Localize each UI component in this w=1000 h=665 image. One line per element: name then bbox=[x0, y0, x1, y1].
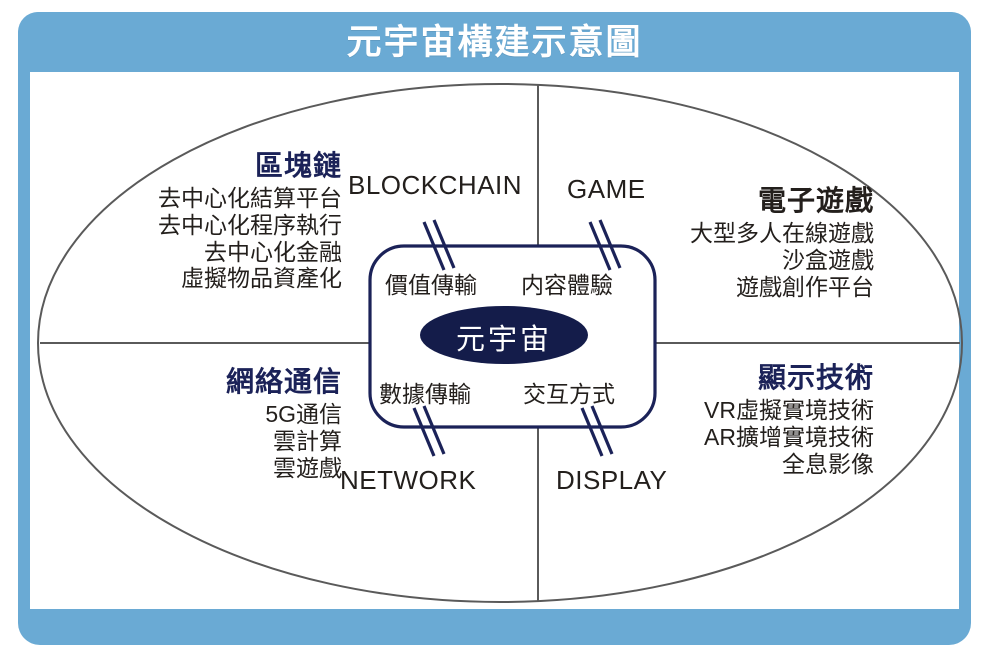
hub-label: 元宇宙 bbox=[420, 316, 588, 358]
quadrant-item: 去中心化結算平台 bbox=[92, 185, 342, 212]
quadrant-item: VR虛擬實境技術 bbox=[624, 397, 874, 424]
quadrant-item: 去中心化金融 bbox=[92, 239, 342, 266]
core-label-value-transfer: 價值傳輸 bbox=[385, 266, 477, 300]
core-label-interaction-mode: 交互方式 bbox=[523, 375, 615, 409]
english-label-blockchain: BLOCKCHAIN bbox=[348, 170, 522, 201]
quadrant-item: 去中心化程序執行 bbox=[92, 212, 342, 239]
english-label-network: NETWORK bbox=[340, 465, 476, 496]
quadrant-item: 雲遊戲 bbox=[92, 455, 342, 482]
quadrant-item: 沙盒遊戲 bbox=[624, 247, 874, 274]
quadrant-heading-blockchain: 區塊鏈 bbox=[92, 150, 342, 182]
quadrant-display: 顯示技術 VR虛擬實境技術 AR擴增實境技術 全息影像 bbox=[624, 362, 874, 477]
quadrant-item: 雲計算 bbox=[92, 428, 342, 455]
quadrant-heading-game: 電子遊戲 bbox=[624, 185, 874, 217]
quadrant-item: 5G通信 bbox=[92, 401, 342, 428]
quadrant-heading-network: 網絡通信 bbox=[92, 366, 342, 398]
diagram-canvas: 元宇宙構建示意圖 元宇 bbox=[0, 0, 1000, 665]
quadrant-item: AR擴增實境技術 bbox=[624, 424, 874, 451]
quadrant-blockchain: 區塊鏈 去中心化結算平台 去中心化程序執行 去中心化金融 虛擬物品資產化 bbox=[92, 150, 342, 292]
quadrant-network: 網絡通信 5G通信 雲計算 雲遊戲 bbox=[92, 366, 342, 481]
quadrant-item: 大型多人在線遊戲 bbox=[624, 220, 874, 247]
quadrant-item: 虛擬物品資產化 bbox=[92, 265, 342, 292]
core-label-data-transfer: 數據傳輸 bbox=[379, 375, 471, 409]
quadrant-item: 全息影像 bbox=[624, 451, 874, 478]
quadrant-heading-display: 顯示技術 bbox=[624, 362, 874, 394]
quadrant-game: 電子遊戲 大型多人在線遊戲 沙盒遊戲 遊戲創作平台 bbox=[624, 185, 874, 300]
core-label-content-experience: 内容體驗 bbox=[521, 266, 613, 300]
quadrant-item: 遊戲創作平台 bbox=[624, 274, 874, 301]
